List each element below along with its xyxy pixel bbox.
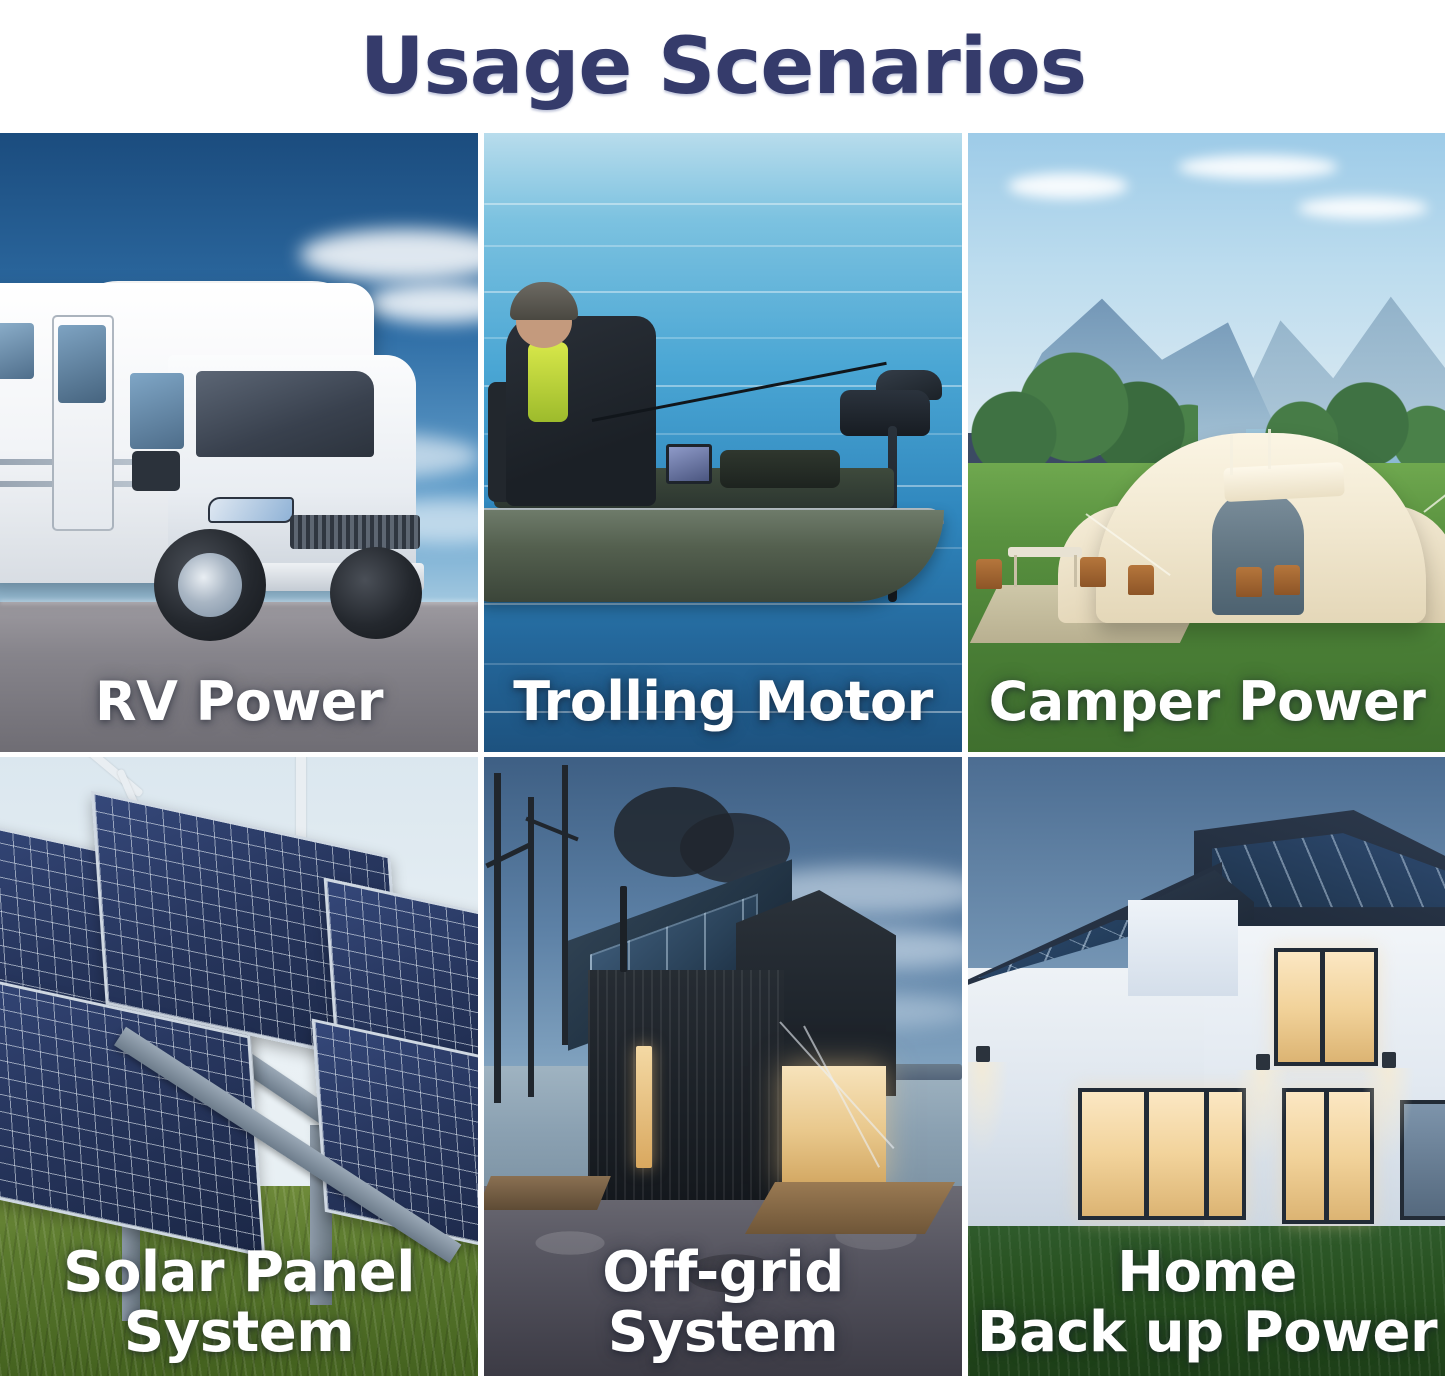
scenario-tile-off-grid-system[interactable]: Off-grid System [484, 757, 962, 1376]
scenario-tile-camper-power[interactable]: Camper Power [968, 133, 1445, 752]
scenario-caption-solar-panel-system: Solar Panel System [0, 1243, 478, 1362]
scenario-tile-rv-power[interactable]: RV Power [0, 133, 478, 752]
scenario-caption-camper-power: Camper Power [968, 673, 1445, 730]
scenario-caption-off-grid-system: Off-grid System [484, 1243, 962, 1362]
page-title: Usage Scenarios [359, 28, 1085, 106]
trolling-motor-image [484, 133, 962, 752]
scenario-caption-home-back-up-power: Home Back up Power [968, 1243, 1445, 1362]
scenario-tile-home-back-up-power[interactable]: Home Back up Power [968, 757, 1445, 1376]
usage-scenarios-page: Usage Scenarios [0, 0, 1445, 1376]
scenario-tile-solar-panel-system[interactable]: Solar Panel System [0, 757, 478, 1376]
rv-power-image [0, 133, 478, 752]
camper-power-image [968, 133, 1445, 752]
scenario-caption-trolling-motor: Trolling Motor [484, 673, 962, 730]
scenario-grid: RV Power [0, 133, 1445, 1376]
page-header: Usage Scenarios [0, 0, 1445, 133]
scenario-caption-rv-power: RV Power [0, 673, 478, 730]
scenario-tile-trolling-motor[interactable]: Trolling Motor [484, 133, 962, 752]
